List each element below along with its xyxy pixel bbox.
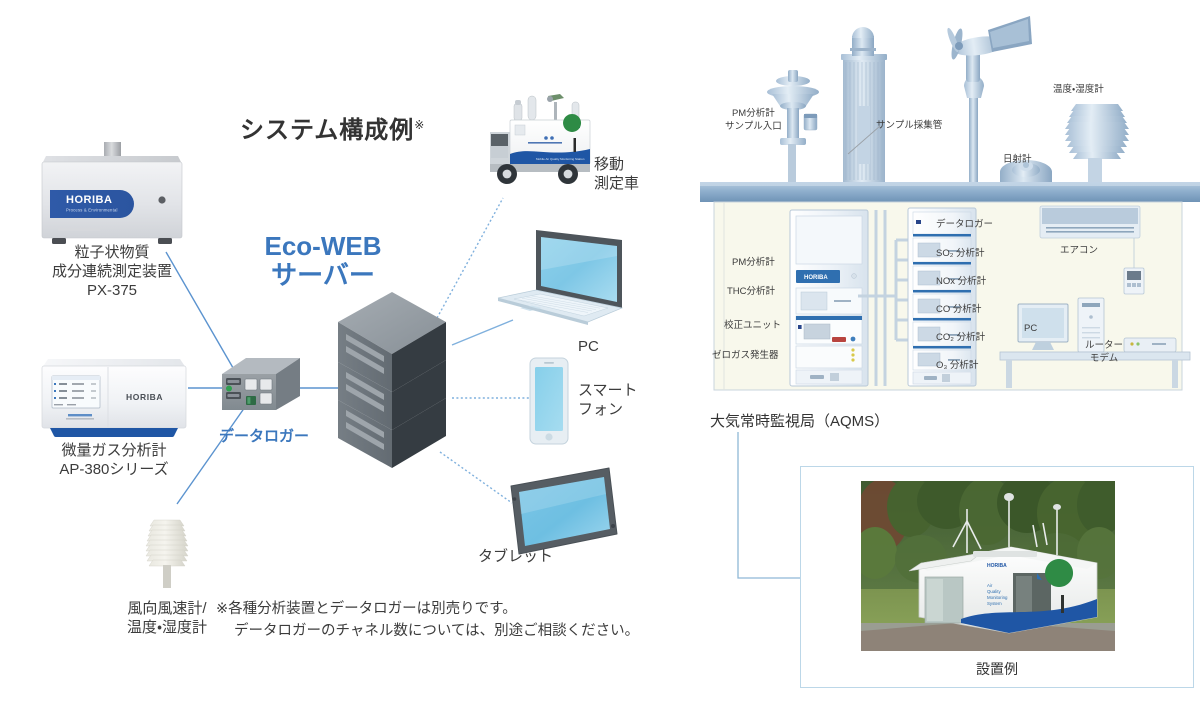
label-sample-collection-tube: サンプル採集管	[876, 120, 942, 133]
svg-text:Air: Air	[987, 583, 993, 588]
px375-label-line1: 粒子状物質	[32, 244, 192, 263]
ap380-screen-titlebar	[52, 376, 100, 380]
label-zero-gas-generator: ゼロガス発生器	[712, 350, 779, 363]
device-ap380-label: 微量ガス分析計 AP-380シリーズ	[24, 442, 204, 480]
label-calibration-unit: 校正ユニット	[724, 320, 781, 333]
page-title: システム構成例※	[240, 110, 425, 145]
photo-panel: HORIBA Air Quality Monitoring System	[800, 466, 1194, 688]
footnote: ※各種分析装置とデータロガーは別売りです。 データロガーのチャネル数については、…	[216, 598, 639, 643]
client-tablet-label: タブレット	[478, 548, 553, 567]
svg-text:Mobile Air Quality Monitoring: Mobile Air Quality Monitoring Station	[536, 157, 585, 161]
footnote-line2: データロガーのチャネル数については、別途ご相談ください。	[216, 620, 639, 642]
datalogger-label: データロガー	[214, 428, 314, 447]
svg-text:System: System	[987, 601, 1002, 606]
device-datalogger	[214, 352, 306, 422]
label-so2-analyzer: SO₂ 分析計	[936, 248, 985, 261]
smartphone-label-line1: スマート	[578, 382, 638, 401]
tablet-illustration	[505, 466, 621, 558]
photo-caption: 設置例	[801, 659, 1193, 679]
ap380-label-line1: 微量ガス分析計	[24, 442, 204, 461]
px375-label-line3: PX-375	[32, 282, 192, 301]
anemometer-propeller	[945, 27, 964, 61]
line-aqms-to-photo	[738, 432, 800, 578]
svg-text:Quality: Quality	[987, 589, 1001, 594]
router-modem-line2: モデム	[1085, 353, 1123, 366]
smartphone-illustration	[526, 356, 574, 446]
mobile-lab-label-line1: 移動	[594, 156, 639, 175]
label-co2-analyzer: CO₂ 分析計	[936, 332, 985, 345]
label-thc-analyzer: THC分析計	[727, 286, 775, 299]
wind-sensor-mast	[163, 565, 171, 588]
label-temp-humidity: 温度・湿度計	[1053, 84, 1104, 97]
pm-sample-inlet-line2: サンプル入口	[725, 121, 782, 134]
mobile-lab-label-line2: 測定車	[594, 175, 639, 194]
server-label-line1: Eco-WEB	[238, 232, 408, 261]
px375-label-line2: 成分連続測定装置	[32, 263, 192, 282]
label-pyranometer: 日射計	[1003, 154, 1032, 167]
pm-sample-inlet-line1: PM分析計	[725, 108, 782, 121]
roof-instruments-illustration	[700, 10, 1200, 195]
eco-web-server	[330, 292, 470, 482]
svg-text:Monitoring: Monitoring	[987, 595, 1008, 600]
smartphone-screen	[535, 367, 563, 431]
smartphone-label-line2: フォン	[578, 401, 638, 420]
mobile-lab-tree	[563, 114, 581, 132]
diagram-canvas: システム構成例※	[0, 0, 1200, 727]
label-co-analyzer: CO 分析計	[936, 304, 981, 317]
server-illustration	[330, 292, 470, 482]
label-o3-analyzer: O₃ 分析計	[936, 360, 978, 373]
laptop-illustration	[496, 226, 626, 336]
smartphone-home-button	[545, 433, 552, 440]
installation-photo: HORIBA Air Quality Monitoring System	[861, 481, 1115, 651]
router-modem-line1: ルーター	[1085, 340, 1123, 353]
svg-text:HORIBA: HORIBA	[804, 275, 828, 281]
client-pc-label: PC	[578, 338, 599, 357]
label-air-conditioner: エアコン	[1060, 245, 1098, 258]
label-pm-sample-inlet: PM分析計 サンプル入口	[725, 108, 782, 134]
client-pc	[496, 226, 626, 336]
server-label-line2: サーバー	[238, 261, 408, 290]
aqms-caption: 大気常時監視局（AQMS）	[710, 410, 889, 431]
label-router-modem: ルーター モデム	[1085, 340, 1123, 366]
client-smartphone	[526, 356, 574, 446]
left-rack: HORIBA	[790, 210, 868, 386]
datalogger-status-led	[226, 386, 232, 392]
page-title-text: システム構成例	[240, 117, 414, 144]
device-ap380: HORIBA	[36, 352, 192, 438]
mobile-lab-window	[515, 125, 525, 135]
datalogger-illustration	[214, 352, 306, 422]
label-station-pc: PC	[1024, 323, 1037, 336]
ap380-brand-text: HORIBA	[126, 392, 163, 402]
page-title-marker: ※	[414, 118, 425, 132]
server-label: Eco-WEB サーバー	[238, 232, 408, 290]
ap380-label-line2: AP-380シリーズ	[24, 461, 204, 480]
ap380-blue-base	[50, 428, 178, 437]
aqms-roof-instruments	[700, 10, 1200, 195]
ap380-sub-label	[68, 414, 92, 416]
radiation-shield-plates	[146, 520, 188, 566]
ap380-illustration: HORIBA	[36, 352, 192, 438]
tablet-home-button	[611, 524, 615, 528]
ap380-sub-label2	[66, 418, 94, 420]
footnote-line1: ※各種分析装置とデータロガーは別売りです。	[216, 598, 639, 620]
tablet-camera	[513, 497, 517, 501]
px375-port	[158, 196, 165, 203]
px375-brand-text: HORIBA	[66, 194, 112, 206]
temp-humidity-shield-icon	[1065, 104, 1129, 184]
label-datalogger-rack: データロガー	[936, 219, 993, 232]
px375-illustration: HORIBA Process & Environmental	[32, 142, 192, 250]
device-px375: HORIBA Process & Environmental	[32, 142, 192, 250]
client-smartphone-label: スマート フォン	[578, 382, 638, 420]
photo-image: HORIBA Air Quality Monitoring System	[861, 481, 1115, 651]
client-mobile-lab-label: 移動 測定車	[594, 156, 639, 194]
svg-text:HORIBA: HORIBA	[987, 563, 1007, 569]
px375-brand-subtext: Process & Environmental	[66, 208, 118, 213]
device-px375-label: 粒子状物質 成分連続測定装置 PX-375	[32, 244, 192, 300]
px375-label-strip	[58, 228, 100, 231]
wind-sensor-illustration	[132, 508, 202, 588]
ap380-screen	[52, 376, 100, 408]
client-tablet	[505, 466, 621, 558]
device-wind-sensor	[132, 508, 202, 588]
label-nox-analyzer: NOx 分析計	[936, 276, 986, 289]
label-pm-analyzer: PM分析計	[732, 257, 775, 270]
